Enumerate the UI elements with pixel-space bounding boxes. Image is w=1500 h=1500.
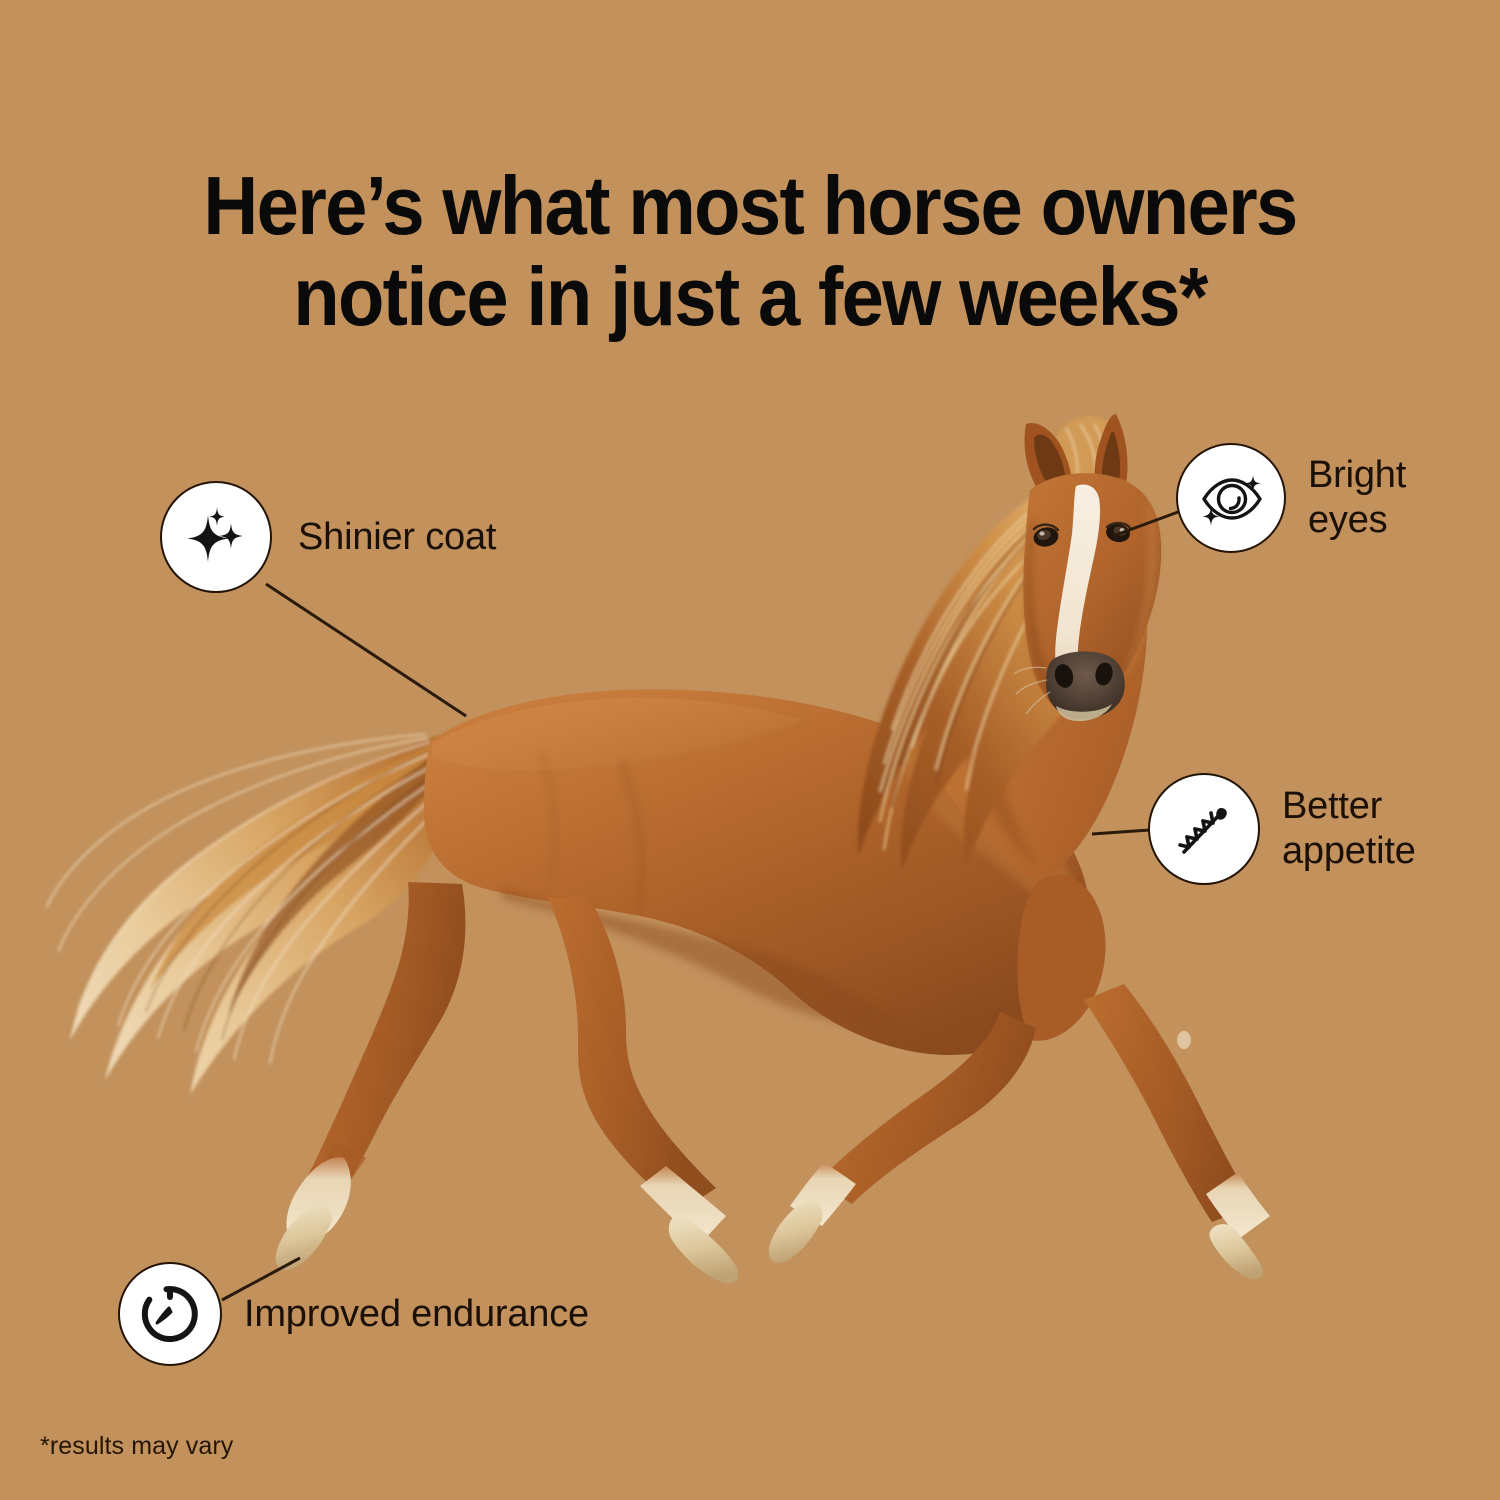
page-title: Here’s what most horse owners notice in … bbox=[64, 160, 1437, 343]
callout-label-better-appetite: Better appetite bbox=[1282, 784, 1416, 874]
horse-mane bbox=[858, 416, 1117, 870]
leader-line-bright-eyes bbox=[1113, 512, 1178, 536]
horse-legs bbox=[276, 882, 1270, 1283]
callout-better-appetite: Better appetite bbox=[1148, 773, 1416, 885]
horse-body bbox=[424, 689, 1090, 1055]
leader-line-better-appetite bbox=[1092, 830, 1150, 834]
horse-neck bbox=[910, 501, 1148, 1041]
infographic-canvas: Here’s what most horse owners notice in … bbox=[0, 0, 1500, 1500]
callout-shinier-coat: Shinier coat bbox=[160, 481, 496, 593]
callout-improved-endurance: Improved endurance bbox=[118, 1262, 589, 1366]
badge-shinier-coat bbox=[160, 481, 272, 593]
sparkle-icon bbox=[182, 503, 250, 571]
callout-label-improved-endurance: Improved endurance bbox=[244, 1292, 589, 1337]
horse-head bbox=[1014, 414, 1161, 721]
callout-label-shinier-coat: Shinier coat bbox=[298, 515, 496, 560]
eye-icon bbox=[1195, 462, 1267, 534]
callout-label-bright-eyes: Bright eyes bbox=[1308, 453, 1406, 543]
badge-improved-endurance bbox=[118, 1262, 222, 1366]
stopwatch-icon bbox=[137, 1281, 203, 1347]
leader-line-shinier-coat bbox=[266, 584, 466, 716]
badge-bright-eyes bbox=[1176, 443, 1286, 553]
badge-better-appetite bbox=[1148, 773, 1260, 885]
callout-bright-eyes: Bright eyes bbox=[1176, 443, 1406, 553]
footnote-disclaimer: *results may vary bbox=[40, 1432, 233, 1461]
horse-tail bbox=[46, 734, 442, 1095]
wheat-icon bbox=[1171, 796, 1237, 862]
